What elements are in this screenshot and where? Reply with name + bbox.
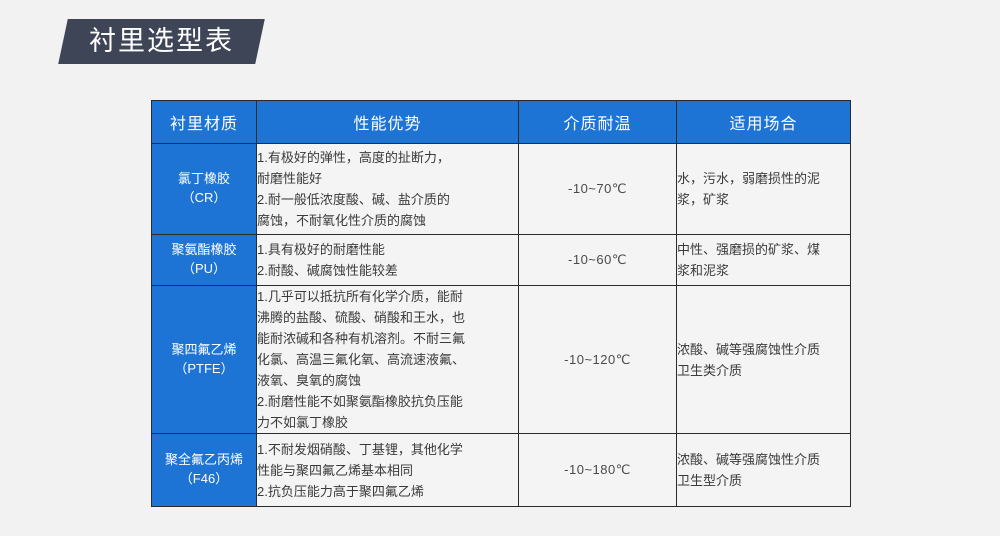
material-abbreviation: （PTFE） <box>152 360 256 379</box>
cell-performance: 1.具有极好的耐磨性能 2.耐酸、碱腐蚀性能较差 <box>257 235 519 286</box>
performance-line: 性能与聚四氟乙烯基本相同 <box>257 460 518 481</box>
table-row: 聚全氟乙丙烯 （F46） 1.不耐发烟硝酸、丁基锂，其他化学 性能与聚四氟乙烯基… <box>152 434 851 507</box>
table-header: 衬里材质 性能优势 介质耐温 适用场合 <box>152 101 851 144</box>
application-line: 浓酸、碱等强腐蚀性介质 <box>677 339 850 360</box>
performance-line: 1.具有极好的耐磨性能 <box>257 239 518 260</box>
material-abbreviation: （CR） <box>152 189 256 208</box>
table-row: 聚四氟乙烯 （PTFE） 1.几乎可以抵抗所有化学介质，能耐 沸腾的盐酸、硫酸、… <box>152 286 851 434</box>
material-name: 聚全氟乙丙烯 <box>152 451 256 470</box>
column-header-material: 衬里材质 <box>152 101 257 144</box>
cell-application: 水，污水，弱磨损性的泥 浆，矿浆 <box>677 144 851 235</box>
page-title: 衬里选型表 <box>89 28 234 55</box>
application-line: 水，污水，弱磨损性的泥 <box>677 168 850 189</box>
column-header-temperature: 介质耐温 <box>519 101 677 144</box>
cell-performance: 1.不耐发烟硝酸、丁基锂，其他化学 性能与聚四氟乙烯基本相同 2.抗负压能力高于… <box>257 434 519 507</box>
cell-application: 浓酸、碱等强腐蚀性介质 卫生型介质 <box>677 434 851 507</box>
application-line: 卫生型介质 <box>677 470 850 491</box>
page-title-banner: 衬里选型表 <box>58 19 265 64</box>
cell-performance: 1.有极好的弹性，高度的扯断力， 耐磨性能好 2.耐一般低浓度酸、碱、盐介质的 … <box>257 144 519 235</box>
application-line: 浆和泥浆 <box>677 260 850 281</box>
material-name: 聚氨酯橡胶 <box>152 241 256 260</box>
table-header-row: 衬里材质 性能优势 介质耐温 适用场合 <box>152 101 851 144</box>
application-line: 浓酸、碱等强腐蚀性介质 <box>677 449 850 470</box>
performance-line: 化氯、高温三氟化氧、高流速液氟、 <box>257 349 518 370</box>
cell-material: 聚四氟乙烯 （PTFE） <box>152 286 257 434</box>
cell-temperature: -10~60℃ <box>519 235 677 286</box>
material-abbreviation: （F46） <box>152 470 256 489</box>
performance-line: 液氧、臭氧的腐蚀 <box>257 370 518 391</box>
cell-material: 聚全氟乙丙烯 （F46） <box>152 434 257 507</box>
cell-material: 氯丁橡胶 （CR） <box>152 144 257 235</box>
cell-performance: 1.几乎可以抵抗所有化学介质，能耐 沸腾的盐酸、硫酸、硝酸和王水，也 能耐浓碱和… <box>257 286 519 434</box>
table-body: 氯丁橡胶 （CR） 1.有极好的弹性，高度的扯断力， 耐磨性能好 2.耐一般低浓… <box>152 144 851 507</box>
cell-application: 中性、强磨损的矿浆、煤 浆和泥浆 <box>677 235 851 286</box>
cell-temperature: -10~120℃ <box>519 286 677 434</box>
column-header-performance: 性能优势 <box>257 101 519 144</box>
application-line: 中性、强磨损的矿浆、煤 <box>677 239 850 260</box>
cell-temperature: -10~70℃ <box>519 144 677 235</box>
performance-line: 2.耐磨性能不如聚氨酯橡胶抗负压能 <box>257 391 518 412</box>
application-line: 浆，矿浆 <box>677 189 850 210</box>
performance-line: 耐磨性能好 <box>257 168 518 189</box>
performance-line: 1.有极好的弹性，高度的扯断力， <box>257 147 518 168</box>
lining-selection-table: 衬里材质 性能优势 介质耐温 适用场合 氯丁橡胶 （CR） 1.有极好的弹性，高… <box>151 100 851 507</box>
performance-line: 1.几乎可以抵抗所有化学介质，能耐 <box>257 286 518 307</box>
performance-line: 2.耐酸、碱腐蚀性能较差 <box>257 260 518 281</box>
performance-line: 腐蚀，不耐氧化性介质的腐蚀 <box>257 210 518 231</box>
application-line: 卫生类介质 <box>677 360 850 381</box>
performance-line: 能耐浓碱和各种有机溶剂。不耐三氟 <box>257 328 518 349</box>
performance-line: 2.抗负压能力高于聚四氟乙烯 <box>257 481 518 502</box>
material-name: 聚四氟乙烯 <box>152 341 256 360</box>
material-name: 氯丁橡胶 <box>152 170 256 189</box>
performance-line: 力不如氯丁橡胶 <box>257 412 518 433</box>
table-row: 聚氨酯橡胶 （PU） 1.具有极好的耐磨性能 2.耐酸、碱腐蚀性能较差 -10~… <box>152 235 851 286</box>
cell-temperature: -10~180℃ <box>519 434 677 507</box>
performance-line: 2.耐一般低浓度酸、碱、盐介质的 <box>257 189 518 210</box>
column-header-application: 适用场合 <box>677 101 851 144</box>
cell-material: 聚氨酯橡胶 （PU） <box>152 235 257 286</box>
material-abbreviation: （PU） <box>152 260 256 279</box>
cell-application: 浓酸、碱等强腐蚀性介质 卫生类介质 <box>677 286 851 434</box>
performance-line: 1.不耐发烟硝酸、丁基锂，其他化学 <box>257 439 518 460</box>
table-row: 氯丁橡胶 （CR） 1.有极好的弹性，高度的扯断力， 耐磨性能好 2.耐一般低浓… <box>152 144 851 235</box>
performance-line: 沸腾的盐酸、硫酸、硝酸和王水，也 <box>257 307 518 328</box>
